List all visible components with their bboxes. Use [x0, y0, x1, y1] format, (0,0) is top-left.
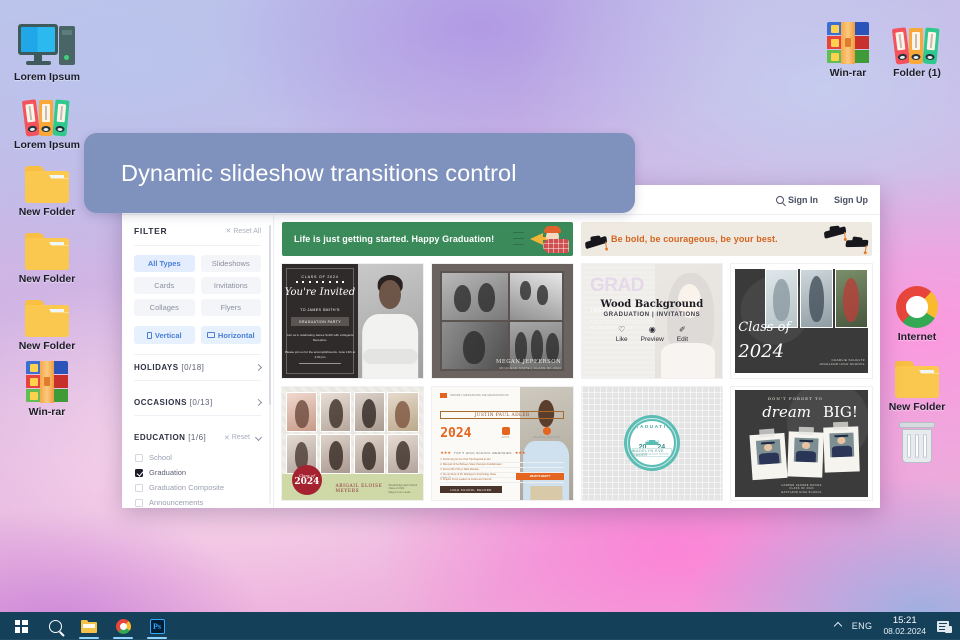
system-tray: ENG 15:21 08.02.2024: [835, 615, 960, 637]
desktop-icon-winrar-left[interactable]: Win-rar: [4, 357, 90, 418]
option-graduation-label: Graduation: [149, 468, 186, 477]
reset-all-button[interactable]: ✕ Reset All: [226, 227, 262, 235]
desktop-icon-label: Lorem Ipsum: [4, 71, 90, 83]
star-icon: ★★★: [515, 450, 526, 455]
filter-title: FILTER: [134, 226, 167, 236]
promo-banner-graduation-text: Life is just getting started. Happy Grad…: [282, 234, 494, 244]
desktop-icon-binders[interactable]: Lorem Ipsum: [4, 90, 90, 151]
option-announcements-label: Announcements: [149, 498, 203, 507]
option-announcements[interactable]: Announcements: [134, 495, 261, 508]
preview-label: Preview: [641, 336, 664, 343]
eye-icon: ◉: [649, 326, 656, 334]
chrome-icon: [116, 619, 131, 634]
checkbox-checked-icon[interactable]: [135, 469, 143, 477]
desktop-icon-label: Internet: [874, 331, 960, 343]
group-holidays-title: HOLIDAYS: [134, 363, 179, 372]
orientation-group: Vertical Horizontal: [134, 326, 261, 344]
card7-num2: 24: [657, 444, 665, 451]
edit-label: Edit: [677, 336, 688, 343]
template-grid-area: Life is just getting started. Happy Grad…: [274, 215, 880, 508]
card1-title: You're Invited: [282, 287, 358, 298]
logo-mark: [440, 393, 447, 398]
card-hover-overlay: Wood Background GRADUATION | INVITATIONS…: [582, 264, 723, 378]
desktop-icon-new-folder-3[interactable]: New Folder: [4, 291, 90, 352]
template-card[interactable]: DON'T FORGET TO dream BIG! HARPER LENORE…: [731, 387, 872, 501]
template-cards-grid: CLASS OF 2024 You're Invited TO JAMES SM…: [282, 256, 872, 508]
orientation-vertical-label: Vertical: [155, 331, 182, 340]
option-graduation[interactable]: Graduation: [134, 465, 261, 480]
edit-button[interactable]: ✐ Edit: [677, 326, 688, 343]
education-reset-button[interactable]: ✕ Reset: [224, 434, 250, 442]
group-education-count: [1/6]: [188, 433, 206, 442]
card6-button2: HIGH SCHOOL RECORD: [450, 488, 491, 492]
card7-classof: class of: [645, 440, 659, 444]
auth-actions: Sign In Sign Up: [776, 185, 868, 215]
photoshop-icon: Ps: [150, 619, 165, 634]
chrome-button[interactable]: [106, 612, 140, 640]
card4-line2: 2024: [738, 343, 784, 361]
promo-banner-bebold-text: Be bold, be courageous, be your best.: [581, 234, 778, 244]
clock-time: 15:21: [883, 615, 926, 626]
card5-name2: MEYERS: [335, 489, 382, 494]
card6-stat1: ALPHA: [488, 436, 523, 439]
option-school-label: School: [149, 453, 172, 462]
chevron-up-icon[interactable]: [834, 622, 842, 630]
card7-ribbon: MADELYN EVE BAKER: [633, 449, 672, 457]
binders-icon: [4, 90, 90, 136]
binders-icon: [874, 18, 960, 64]
card1-ribbon: GRADUATION PARTY: [299, 320, 341, 324]
desktop-icon-label: New Folder: [4, 206, 90, 218]
desktop-icon-label: Win-rar: [4, 406, 90, 418]
card4-line1: Class of: [738, 321, 790, 334]
chevron-down-icon: [255, 434, 262, 441]
annotation-tooltip: Dynamic slideshow transitions control: [84, 133, 635, 213]
checkbox-icon[interactable]: [135, 454, 143, 462]
clock-date: 08.02.2024: [883, 626, 926, 637]
chip-all-types[interactable]: All Types: [134, 255, 195, 272]
option-school[interactable]: School: [134, 450, 261, 465]
card6-fineprint: CLASS OF: [440, 477, 488, 480]
reset-all-label: Reset All: [233, 228, 261, 235]
card6-kicker: PROUDLY ANNOUNCING THE GRADUATION OF: [450, 394, 509, 397]
chip-collages[interactable]: Collages: [134, 299, 195, 316]
card7-arc: GRADUATING: [630, 424, 674, 429]
template-browser-window: shows Sign In Sign Up FILTER ✕ R: [122, 185, 880, 508]
orientation-horizontal-button[interactable]: Horizontal: [201, 326, 262, 344]
promo-banners: Life is just getting started. Happy Grad…: [282, 222, 872, 256]
card1-recipient: TO JAMES SMITH'S: [282, 308, 358, 312]
divider: [134, 245, 261, 246]
chrome-icon: [874, 282, 960, 328]
landscape-icon: [207, 332, 215, 338]
group-occasions-count: [0/13]: [190, 398, 213, 407]
type-chip-group: All Types Slideshows Cards Invitations C…: [134, 255, 261, 316]
card6-list-title: TOP 5 HIGH SCHOOL MEMORIES: [454, 451, 512, 455]
sign-in-button[interactable]: Sign In: [776, 195, 818, 205]
template-card[interactable]: Class of 2024 CHARLIE SCHULTZ HIGHLAND H…: [731, 264, 872, 378]
group-occasions-title: OCCASIONS: [134, 398, 187, 407]
divider: [134, 380, 261, 381]
search-button[interactable]: [38, 612, 72, 640]
card3-overlay-title: Wood Background: [601, 299, 704, 310]
divider: [134, 415, 261, 416]
card1-class-of: CLASS OF 2024: [282, 275, 358, 279]
desktop-icon-label: Lorem Ipsum: [4, 139, 90, 151]
folder-icon: [874, 352, 960, 398]
chevron-right-icon: [255, 399, 262, 406]
taskbar: Ps ENG 15:21 08.02.2024: [0, 612, 960, 640]
filter-sidebar: FILTER ✕ Reset All All Types Slideshows …: [122, 215, 274, 508]
template-card-hovered[interactable]: GRAD TWENTY-TWENTY-FOUR ELIZABETH MAY Wo…: [582, 264, 723, 378]
clock[interactable]: 15:21 08.02.2024: [883, 615, 926, 637]
card4-school: HIGHLAND HIGH SCHOOL: [820, 362, 865, 366]
photoshop-label: Ps: [153, 622, 161, 631]
promo-banner-bebold[interactable]: Be bold, be courageous, be your best.: [581, 222, 872, 256]
card2-subtitle: MICHIGAN STATE | CLASS OF 2024: [496, 366, 561, 370]
template-card[interactable]: Class of 2024 ABIGAIL ELOISE MEYERS Wood…: [282, 387, 423, 501]
card8-word1: dream: [762, 405, 811, 420]
chip-flyers[interactable]: Flyers: [201, 299, 262, 316]
desktop-icon-label: Folder (1): [874, 67, 960, 79]
checkbox-icon[interactable]: [135, 499, 143, 507]
group-education[interactable]: EDUCATION [1/6] ✕ Reset: [134, 425, 261, 450]
folder-icon: [4, 291, 90, 337]
trumpeter-icon: [495, 224, 569, 254]
close-icon: ✕: [226, 227, 232, 235]
template-card[interactable]: CLASS OF 2024 You're Invited TO JAMES SM…: [282, 264, 423, 378]
card8-school: EASTLAND HIGH SCHOOL: [731, 491, 872, 495]
sidebar-scrollbar-thumb[interactable]: [269, 225, 271, 405]
graduation-cap-icon: [845, 236, 868, 251]
like-label: Like: [616, 336, 628, 343]
app-body: FILTER ✕ Reset All All Types Slideshows …: [122, 215, 880, 508]
preview-button[interactable]: ◉ Preview: [641, 326, 664, 343]
sign-up-button[interactable]: Sign Up: [834, 195, 868, 205]
desktop-icon-label: New Folder: [4, 273, 90, 285]
card7-footer: WOODBRIDGE HIGH SCHOOL: [630, 453, 674, 456]
sign-in-label: Sign In: [788, 195, 818, 205]
language-indicator[interactable]: ENG: [852, 621, 873, 631]
desktop-icon-label: New Folder: [874, 401, 960, 413]
search-icon: [49, 620, 62, 633]
windows-logo-icon: [15, 620, 28, 633]
start-button[interactable]: [4, 612, 38, 640]
pencil-icon: ✐: [679, 326, 686, 334]
checkbox-icon[interactable]: [135, 484, 143, 492]
desktop-icon-new-folder-1[interactable]: New Folder: [4, 157, 90, 218]
desktop-icon-label: New Folder: [4, 340, 90, 352]
desktop-screen: Lorem Ipsum Lorem Ipsum New Folder New F…: [0, 0, 960, 640]
template-card[interactable]: MEGAN JEFFERSON MICHIGAN STATE | CLASS O…: [432, 264, 573, 378]
star-icon: ★★★: [440, 450, 451, 455]
heart-icon: ♡: [618, 326, 625, 334]
orientation-horizontal-label: Horizontal: [218, 331, 255, 340]
chevron-right-icon: [255, 364, 262, 371]
file-explorer-button[interactable]: [72, 612, 106, 640]
card5-detail3: Magna Cum Laude: [388, 491, 417, 495]
card6-year: 2024: [440, 427, 471, 440]
chip-slideshows[interactable]: Slideshows: [201, 255, 262, 272]
search-icon: [776, 196, 784, 204]
chip-invitations[interactable]: Invitations: [201, 277, 262, 294]
folder-icon: [4, 157, 90, 203]
sign-up-label: Sign Up: [834, 195, 868, 205]
photoshop-button[interactable]: Ps: [140, 612, 174, 640]
desktop-icon-internet[interactable]: Internet: [874, 282, 960, 343]
desktop-icon-computer[interactable]: Lorem Ipsum: [4, 22, 90, 83]
card1-body1: Join us in celebrating James Smith with …: [282, 333, 358, 342]
graduation-cap-icon: [823, 225, 846, 239]
desktop-icon-new-folder-right[interactable]: New Folder: [874, 352, 960, 413]
folder-icon: [4, 224, 90, 270]
card5-seal-year: 2024: [294, 478, 319, 487]
computer-icon: [4, 22, 90, 68]
template-card[interactable]: PROUDLY ANNOUNCING THE GRADUATION OF JUS…: [432, 387, 573, 501]
portrait-icon: [147, 332, 152, 339]
option-graduation-composite-label: Graduation Composite: [149, 483, 224, 492]
card6-name: JUSTIN PAUL ADLER: [475, 413, 530, 418]
notifications-icon[interactable]: [937, 620, 952, 633]
card6-stat2: Woodbridge High School: [529, 436, 564, 439]
card2-name: MEGAN JEFFERSON: [496, 359, 561, 365]
chip-cards[interactable]: Cards: [134, 277, 195, 294]
taskbar-buttons: Ps: [0, 612, 174, 640]
like-button[interactable]: ♡ Like: [616, 326, 628, 343]
card3-overlay-subtitle: GRADUATION | INVITATIONS: [604, 312, 701, 318]
graduation-cap-icon: [645, 440, 658, 447]
filter-header: FILTER ✕ Reset All: [134, 226, 261, 245]
group-education-title: EDUCATION: [134, 433, 185, 442]
card1-body2: Please join us for the accomplishments. …: [282, 350, 358, 359]
education-options: School Graduation Graduation Composite A…: [134, 450, 261, 508]
group-holidays[interactable]: HOLIDAYS [0/18]: [134, 355, 261, 380]
desktop-icon-recycle-bin[interactable]: [874, 418, 960, 467]
card7-num1: 20: [639, 444, 647, 451]
group-holidays-count: [0/18]: [181, 363, 204, 372]
graduation-cap-icon: [584, 235, 607, 250]
promo-banner-graduation[interactable]: Life is just getting started. Happy Grad…: [282, 222, 573, 256]
education-reset-label: Reset: [232, 434, 250, 441]
orientation-vertical-button[interactable]: Vertical: [134, 326, 195, 344]
desktop-icon-folder-1[interactable]: Folder (1): [874, 18, 960, 79]
option-graduation-composite[interactable]: Graduation Composite: [134, 480, 261, 495]
winrar-icon: [4, 357, 90, 403]
card8-kicker: DON'T FORGET TO: [768, 396, 823, 401]
group-occasions[interactable]: OCCASIONS [0/13]: [134, 390, 261, 415]
card8-word2: BIG!: [823, 405, 858, 420]
running-indicator: [79, 637, 99, 639]
annotation-tooltip-text: Dynamic slideshow transitions control: [84, 160, 517, 187]
desktop-icon-new-folder-2[interactable]: New Folder: [4, 224, 90, 285]
folder-icon: [81, 620, 97, 633]
running-indicator: [147, 637, 167, 639]
running-indicator: [113, 637, 133, 639]
card6-button1: WHAT'S NEXT?: [530, 474, 551, 478]
recycle-bin-icon: [874, 418, 960, 464]
template-card[interactable]: GRADUATING class of 20 24 M: [582, 387, 723, 501]
close-icon: ✕: [224, 434, 230, 442]
